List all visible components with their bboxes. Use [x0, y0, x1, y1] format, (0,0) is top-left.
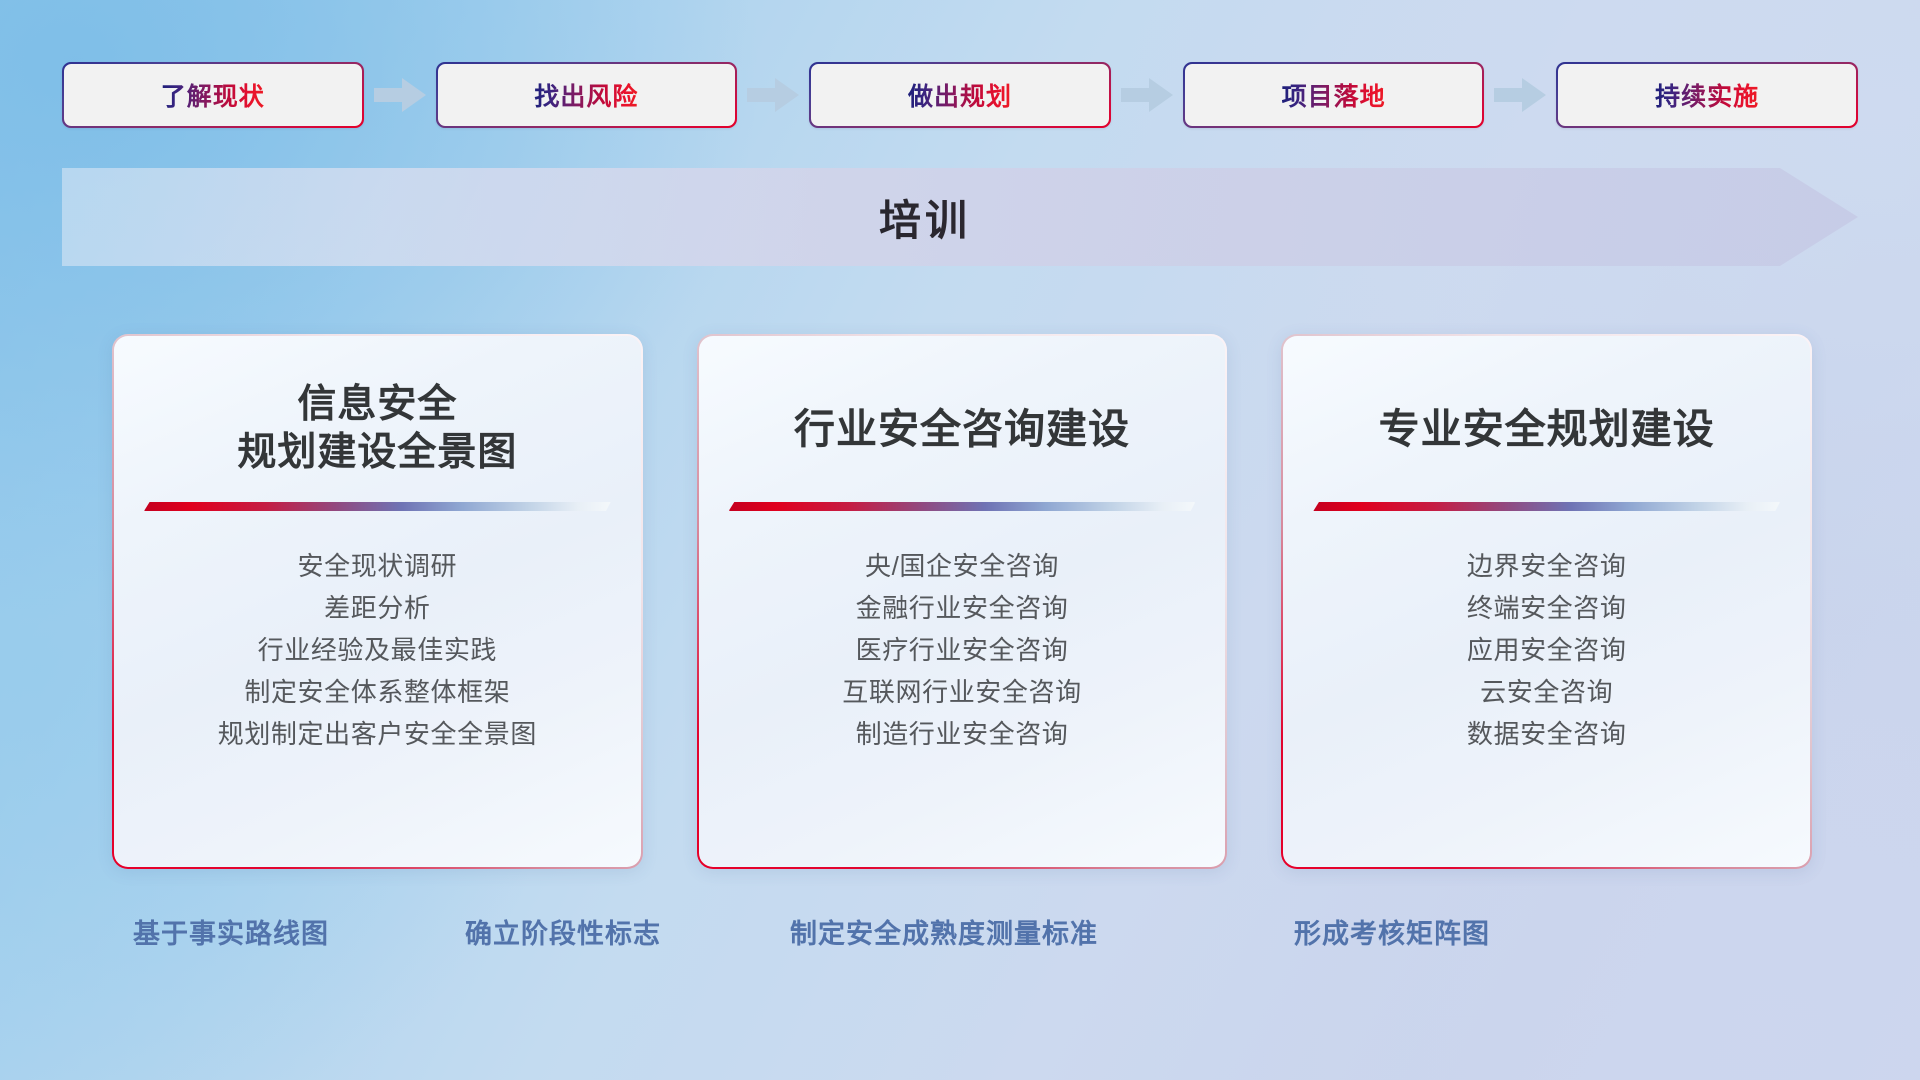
- caption-row: 基于事实路线图 确立阶段性标志 制定安全成熟度测量标准 形成考核矩阵图: [0, 912, 1920, 964]
- card-industry-consulting[interactable]: 行业安全咨询建设 央/国企安全咨询 金融行业安全咨询 医疗行业安全咨询 互联网行…: [697, 334, 1228, 869]
- card-wrapper-3: 专业安全规划建设 边界安全咨询 终端安全咨询 应用安全咨询 云安全咨询 数据安全…: [1281, 334, 1812, 879]
- list-item: 行业经验及最佳实践: [132, 629, 623, 671]
- title-divider: [729, 502, 1196, 511]
- step-box-1[interactable]: 了解现状: [62, 62, 364, 128]
- list-item: 边界安全咨询: [1301, 545, 1792, 587]
- title-divider: [1313, 502, 1780, 511]
- process-step-row: 了解现状 找出风险 做出规划 项目落地: [62, 62, 1858, 128]
- list-item: 央/国企安全咨询: [717, 545, 1208, 587]
- list-item: 医疗行业安全咨询: [717, 629, 1208, 671]
- list-item: 安全现状调研: [132, 545, 623, 587]
- card-professional-planning[interactable]: 专业安全规划建设 边界安全咨询 终端安全咨询 应用安全咨询 云安全咨询 数据安全…: [1281, 334, 1812, 869]
- caption-milestone: 确立阶段性标志: [465, 912, 661, 951]
- right-arrow-icon: [1484, 75, 1556, 115]
- list-item: 金融行业安全咨询: [717, 587, 1208, 629]
- caption-matrix: 形成考核矩阵图: [1294, 912, 1490, 951]
- list-item: 互联网行业安全咨询: [717, 671, 1208, 713]
- caption-roadmap: 基于事实路线图: [133, 912, 329, 951]
- caption-maturity: 制定安全成熟度测量标准: [790, 912, 1098, 951]
- card-item-list: 边界安全咨询 终端安全咨询 应用安全咨询 云安全咨询 数据安全咨询: [1283, 545, 1810, 756]
- step-label: 项目落地: [1282, 77, 1386, 113]
- right-arrow-icon: [364, 75, 436, 115]
- list-item: 终端安全咨询: [1301, 587, 1792, 629]
- step-box-3[interactable]: 做出规划: [809, 62, 1111, 128]
- card-wrapper-2: 行业安全咨询建设 央/国企安全咨询 金融行业安全咨询 医疗行业安全咨询 互联网行…: [697, 334, 1228, 879]
- card-title-line: 信息安全: [297, 383, 457, 426]
- step-label: 持续实施: [1655, 77, 1759, 113]
- step-label: 了解现状: [161, 77, 265, 113]
- list-item: 云安全咨询: [1301, 671, 1792, 713]
- card-panorama[interactable]: 信息安全 规划建设全景图 安全现状调研 差距分析 行业经验及最佳实践 制定安全体…: [112, 334, 643, 869]
- list-item: 制造行业安全咨询: [717, 713, 1208, 755]
- card-title: 专业安全规划建设: [1283, 370, 1810, 488]
- card-item-list: 安全现状调研 差距分析 行业经验及最佳实践 制定安全体系整体框架 规划制定出客户…: [114, 545, 641, 756]
- card-row: 信息安全 规划建设全景图 安全现状调研 差距分析 行业经验及最佳实践 制定安全体…: [112, 334, 1812, 879]
- list-item: 数据安全咨询: [1301, 713, 1792, 755]
- list-item: 制定安全体系整体框架: [132, 671, 623, 713]
- step-label: 找出风险: [534, 77, 638, 113]
- card-title-line: 规划建设全景图: [237, 431, 517, 474]
- list-item: 应用安全咨询: [1301, 629, 1792, 671]
- step-box-2[interactable]: 找出风险: [436, 62, 738, 128]
- banner-title: 培训: [62, 168, 1858, 266]
- title-divider: [144, 502, 611, 511]
- right-arrow-icon: [737, 75, 809, 115]
- list-item: 差距分析: [132, 587, 623, 629]
- step-box-4[interactable]: 项目落地: [1183, 62, 1485, 128]
- list-item: 规划制定出客户安全全景图: [132, 713, 623, 755]
- card-title: 行业安全咨询建设: [699, 370, 1226, 488]
- card-wrapper-1: 信息安全 规划建设全景图 安全现状调研 差距分析 行业经验及最佳实践 制定安全体…: [112, 334, 643, 879]
- right-arrow-icon: [1111, 75, 1183, 115]
- slide-canvas: 了解现状 找出风险 做出规划 项目落地: [0, 0, 1920, 1080]
- card-title: 信息安全 规划建设全景图: [114, 370, 641, 488]
- card-item-list: 央/国企安全咨询 金融行业安全咨询 医疗行业安全咨询 互联网行业安全咨询 制造行…: [699, 545, 1226, 756]
- step-label: 做出规划: [908, 77, 1012, 113]
- step-box-5[interactable]: 持续实施: [1556, 62, 1858, 128]
- training-banner: 培训: [62, 168, 1858, 266]
